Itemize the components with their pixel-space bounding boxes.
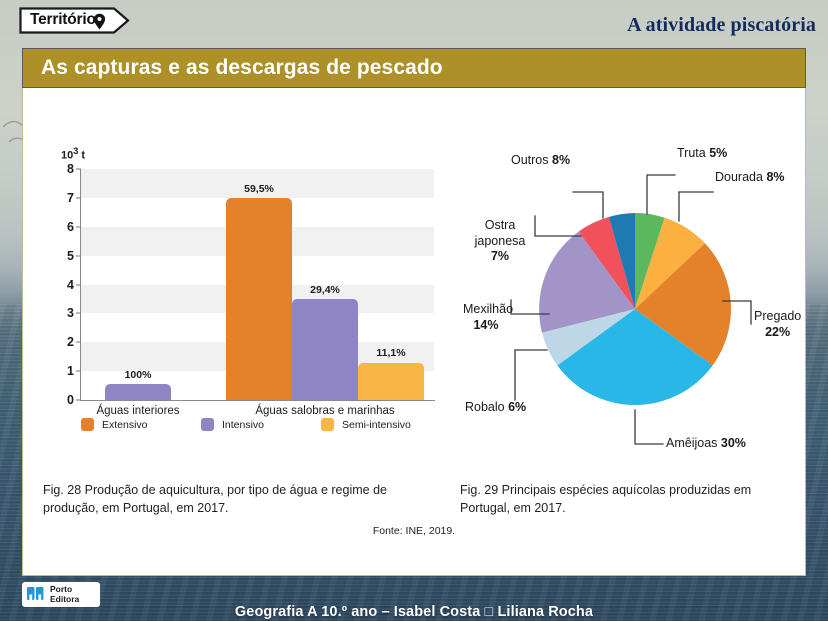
y-tick-label: 6 bbox=[67, 220, 74, 234]
y-tick-mark bbox=[76, 371, 81, 372]
publisher-name-line2: Editora bbox=[50, 595, 79, 604]
y-tick-mark bbox=[76, 255, 81, 256]
pie-label-robalo-value: 6% bbox=[508, 400, 526, 414]
pie-label-mexilhao: Mexilhão 14% bbox=[463, 302, 509, 333]
pie-label-ostra-japonesa: Ostra japonesa 7% bbox=[467, 218, 533, 265]
x-category-label-aguas-interiores: Águas interiores bbox=[96, 405, 179, 417]
source-note: Fonte: INE, 2019. bbox=[23, 525, 805, 537]
y-tick-label: 0 bbox=[67, 393, 74, 407]
pie-label-truta-value: 5% bbox=[709, 146, 727, 160]
content-card: 103 t 0 1 2 3 4 5 6 7 bbox=[22, 88, 806, 576]
leader-line-truta bbox=[647, 175, 675, 214]
pie-label-dourada: Dourada 8% bbox=[715, 170, 785, 186]
pie-label-truta: Truta 5% bbox=[677, 146, 727, 162]
legend-swatch-icon bbox=[81, 418, 94, 431]
pie-label-ostra-value: 7% bbox=[491, 249, 509, 263]
y-tick-mark bbox=[76, 226, 81, 227]
x-category-label-aguas-salobras: Águas salobras e marinhas bbox=[255, 405, 394, 417]
legend-item-extensivo[interactable]: Extensivo bbox=[81, 418, 201, 431]
pie-label-robalo-name: Robalo bbox=[465, 400, 508, 414]
brand-logo-territorios[interactable]: Territórios bbox=[19, 7, 130, 34]
y-tick-mark bbox=[76, 197, 81, 198]
bar-aguas-salobras-semi bbox=[358, 363, 424, 401]
pie-label-mexilhao-name: Mexilhão bbox=[463, 302, 513, 316]
legend-item-intensivo[interactable]: Intensivo bbox=[201, 418, 321, 431]
figure-caption-fig28: Fig. 28 Produção de aquicultura, por tip… bbox=[43, 481, 413, 517]
figure-caption-fig29: Fig. 29 Principais espécies aquícolas pr… bbox=[460, 481, 790, 517]
y-tick-label: 1 bbox=[67, 364, 74, 378]
chapter-title: A atividade piscatória bbox=[627, 14, 816, 37]
pie-label-dourada-name: Dourada bbox=[715, 170, 766, 184]
y-tick-mark bbox=[76, 400, 81, 401]
y-tick-mark bbox=[76, 313, 81, 314]
pie-label-ameijoas-value: 30% bbox=[721, 436, 746, 450]
legend-label: Semi-intensivo bbox=[342, 419, 411, 431]
pie-label-dourada-value: 8% bbox=[766, 170, 784, 184]
y-tick-label: 5 bbox=[67, 249, 74, 263]
pie-label-pregado: Pregado 22% bbox=[754, 309, 801, 340]
pie-label-outros-name: Outros bbox=[511, 153, 552, 167]
footer-credits: Geografia A 10.º ano – Isabel Costa □ Li… bbox=[0, 604, 828, 620]
legend-item-semi-intensivo[interactable]: Semi-intensivo bbox=[321, 418, 441, 431]
bar-chart-legend: Extensivo Intensivo Semi-intensivo bbox=[81, 418, 441, 431]
leader-line-dourada bbox=[679, 192, 713, 221]
pie-label-pregado-value: 22% bbox=[765, 325, 790, 339]
bar-chart-fig28: 103 t 0 1 2 3 4 5 6 7 bbox=[41, 146, 461, 486]
y-tick-label: 7 bbox=[67, 191, 74, 205]
bar-value-label: 11,1% bbox=[376, 347, 405, 359]
pie-chart-fig29: Truta 5% Dourada 8% Pregado 22% Amêijoas… bbox=[461, 128, 807, 488]
leader-line-outros bbox=[573, 192, 603, 218]
y-tick-label: 3 bbox=[67, 306, 74, 320]
pie-label-ostra-name: Ostra japonesa bbox=[475, 218, 526, 248]
porto-editora-mark-icon bbox=[27, 587, 46, 602]
bar-value-label: 59,5% bbox=[244, 183, 274, 195]
y-tick-label: 8 bbox=[67, 162, 74, 176]
pie-label-robalo: Robalo 6% bbox=[465, 400, 526, 416]
y-tick-mark bbox=[76, 342, 81, 343]
bar-chart-plot-area: 0 1 2 3 4 5 6 7 8 100% 59,5% 29,4% bbox=[81, 169, 434, 400]
bar-value-label: 100% bbox=[125, 369, 152, 381]
legend-label: Intensivo bbox=[222, 419, 264, 431]
bar-value-label: 29,4% bbox=[310, 284, 340, 296]
y-tick-label: 4 bbox=[67, 278, 74, 292]
pie-label-outros-value: 8% bbox=[552, 153, 570, 167]
legend-swatch-icon bbox=[201, 418, 214, 431]
leader-line-ameijoas bbox=[635, 410, 663, 444]
slide-title-bar: As capturas e as descargas de pescado bbox=[22, 48, 806, 88]
bar-aguas-salobras-extensivo bbox=[226, 198, 292, 400]
map-pin-icon bbox=[93, 13, 106, 30]
leader-line-ostra bbox=[535, 216, 581, 236]
slide-title: As capturas e as descargas de pescado bbox=[41, 56, 443, 80]
leader-line-robalo bbox=[515, 350, 547, 400]
publisher-logo-label: Porto Editora bbox=[50, 585, 79, 603]
bar-aguas-interiores-intensivo bbox=[105, 384, 171, 400]
pie-label-outros: Outros 8% bbox=[511, 153, 570, 169]
y-axis-unit-label: 103 t bbox=[61, 146, 85, 162]
pie-label-pregado-name: Pregado bbox=[754, 309, 801, 323]
pie-label-ameijoas-name: Amêijoas bbox=[666, 436, 721, 450]
pie-label-mexilhao-value: 14% bbox=[473, 318, 498, 332]
legend-label: Extensivo bbox=[102, 419, 148, 431]
pie-label-truta-name: Truta bbox=[677, 146, 709, 160]
pie-label-ameijoas: Amêijoas 30% bbox=[666, 436, 746, 452]
legend-swatch-icon bbox=[321, 418, 334, 431]
y-tick-mark bbox=[76, 169, 81, 170]
y-tick-mark bbox=[76, 284, 81, 285]
y-tick-label: 2 bbox=[67, 335, 74, 349]
bar-aguas-salobras-intensivo bbox=[292, 299, 358, 400]
